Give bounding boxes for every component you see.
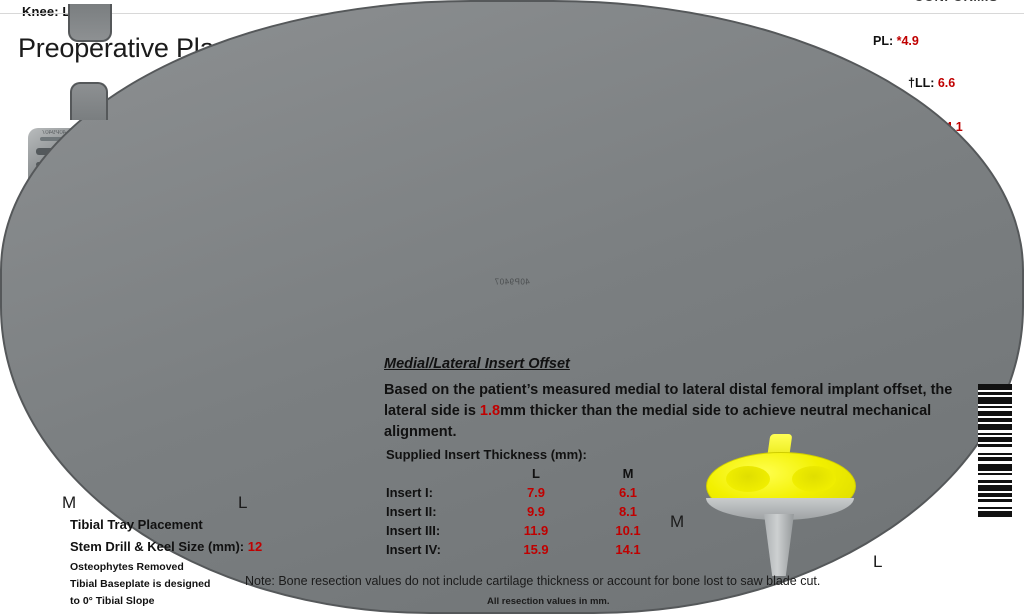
insert-4-label: Insert IV:	[386, 540, 490, 559]
table-row: Insert IV: 15.9 14.1	[386, 540, 674, 559]
implant-lateral-dish	[792, 466, 836, 492]
insert-thickness-table: L M Insert I: 7.9 6.1 Insert II: 9.9 8.1…	[386, 464, 674, 559]
column-header-l: L	[490, 464, 582, 483]
stem-keel-size: Stem Drill & Keel Size (mm): 12	[70, 539, 262, 554]
header-blank	[386, 464, 490, 483]
baseplate-line-1: Tibial Baseplate is designed	[70, 578, 210, 590]
insert-1-l: 7.9	[490, 483, 582, 502]
osteophytes-line: Osteophytes Removed	[70, 561, 184, 573]
units-subnote: All resection values in mm.	[487, 596, 610, 607]
preoperative-plan-page: Knee: Left CONFORMIS Preoperative Plan T…	[0, 0, 1024, 614]
insert-4-m: 14.1	[582, 540, 674, 559]
resection-note: Note: Bone resection values do not inclu…	[245, 574, 820, 588]
offset-value: 1.8	[480, 403, 500, 419]
insert-1-m: 6.1	[582, 483, 674, 502]
insert-2-m: 8.1	[582, 502, 674, 521]
measurement-pl: PL: *4.9	[873, 34, 919, 48]
barcode	[978, 384, 1012, 576]
measurement-ll: †LL: 6.6	[908, 76, 955, 90]
tray-anterior-notch	[70, 82, 108, 120]
table-row: Insert II: 9.9 8.1	[386, 502, 674, 521]
company-logo: CONFORMIS	[914, 0, 998, 1]
tray-lateral-label: L	[238, 493, 247, 513]
insert-offset-heading: Medial/Lateral Insert Offset	[384, 356, 570, 372]
insert-1-label: Insert I:	[386, 483, 490, 502]
implant-medial-label: M	[670, 512, 684, 532]
implant-medial-dish	[726, 466, 770, 492]
insert-thickness-title: Supplied Insert Thickness (mm):	[386, 447, 587, 462]
table-row: Insert I: 7.9 6.1	[386, 483, 674, 502]
insert-3-m: 10.1	[582, 521, 674, 540]
implant-lateral-label: L	[873, 552, 882, 572]
tray-medial-label: M	[62, 493, 76, 513]
insert-4-l: 15.9	[490, 540, 582, 559]
insert-2-l: 9.9	[490, 502, 582, 521]
table-header-row: L M	[386, 464, 674, 483]
table-row: Insert III: 11.9 10.1	[386, 521, 674, 540]
insert-3-l: 11.9	[490, 521, 582, 540]
insert-offset-body: Based on the patient’s measured medial t…	[384, 380, 976, 443]
tray-caption: Tibial Tray Placement	[70, 517, 203, 532]
column-header-m: M	[582, 464, 674, 483]
insert-3-label: Insert III:	[386, 521, 490, 540]
tray-post-notch	[68, 4, 112, 42]
tray-engraving: 40P9407	[494, 278, 530, 287]
insert-2-label: Insert II:	[386, 502, 490, 521]
baseplate-line-2: to 0° Tibial Slope	[70, 595, 155, 607]
